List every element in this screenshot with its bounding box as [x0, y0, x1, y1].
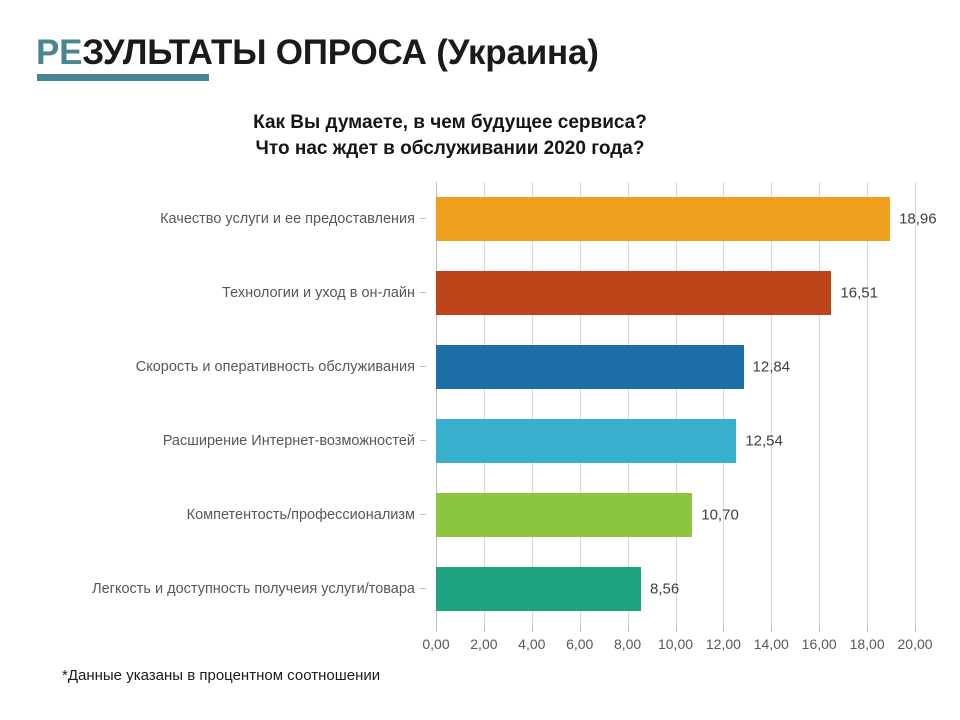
category-label: Качество услуги и ее предоставления: [0, 182, 426, 256]
bar-row[interactable]: 8,56: [436, 552, 915, 626]
chart-title-line-2: Что нас ждет в обслуживании 2020 года?: [0, 136, 900, 162]
bar[interactable]: 12,84: [436, 345, 744, 389]
page-title-accent: РЕ: [36, 33, 82, 72]
value-axis-tick: [771, 626, 772, 632]
value-axis-tick: [723, 626, 724, 632]
bar-value-label: 8,56: [650, 581, 679, 598]
bar-row[interactable]: 10,70: [436, 478, 915, 552]
bar-row[interactable]: 12,54: [436, 404, 915, 478]
category-label-text: Скорость и оперативность обслуживания: [136, 359, 415, 375]
bar-value-label: 16,51: [840, 285, 878, 302]
value-axis-label: 0,00: [422, 636, 449, 652]
value-axis-tick: [867, 626, 868, 632]
value-axis-label: 14,00: [754, 636, 789, 652]
axis-tick: [420, 218, 426, 219]
axis-tick: [420, 588, 426, 589]
bar[interactable]: 10,70: [436, 493, 692, 537]
category-label-text: Качество услуги и ее предоставления: [160, 211, 415, 227]
bar-value-label: 12,54: [745, 433, 783, 450]
value-axis: 0,002,004,006,008,0010,0012,0014,0016,00…: [436, 626, 915, 656]
bar[interactable]: 16,51: [436, 271, 831, 315]
category-label-text: Компетентость/профессионализм: [187, 507, 415, 523]
plot-area: 18,9616,5112,8412,5410,708,56: [436, 182, 915, 626]
bar[interactable]: 8,56: [436, 567, 641, 611]
chart-title-line-1: Как Вы думаете, в чем будущее сервиса?: [0, 110, 900, 136]
bar-value-label: 10,70: [701, 507, 739, 524]
bar[interactable]: 18,96: [436, 197, 890, 241]
category-label: Скорость и оперативность обслуживания: [0, 330, 426, 404]
bar-row[interactable]: 16,51: [436, 256, 915, 330]
axis-tick: [420, 366, 426, 367]
bar-row[interactable]: 12,84: [436, 330, 915, 404]
category-label: Компетентость/профессионализм: [0, 478, 426, 552]
axis-tick: [420, 440, 426, 441]
category-label: Легкость и доступность получеия услуги/т…: [0, 552, 426, 626]
bar-series: 18,9616,5112,8412,5410,708,56: [436, 182, 915, 626]
category-label-text: Технологии и уход в он-лайн: [222, 285, 415, 301]
axis-tick: [420, 514, 426, 515]
axis-tick: [420, 292, 426, 293]
gridline: [915, 182, 916, 626]
value-axis-label: 2,00: [470, 636, 497, 652]
title-underline-rule: [37, 74, 209, 81]
value-axis-tick: [580, 626, 581, 632]
value-axis-tick: [436, 626, 437, 632]
value-axis-tick: [484, 626, 485, 632]
value-axis-label: 18,00: [850, 636, 885, 652]
value-axis-tick: [819, 626, 820, 632]
bar-value-label: 18,96: [899, 211, 937, 228]
value-axis-label: 12,00: [706, 636, 741, 652]
value-axis-tick: [532, 626, 533, 632]
value-axis-tick: [915, 626, 916, 632]
slide-canvas: РЕЗУЛЬТАТЫ ОПРОСА (Украина) Как Вы думае…: [0, 0, 960, 720]
value-axis-label: 8,00: [614, 636, 641, 652]
bar-chart: Качество услуги и ее предоставления Техн…: [0, 182, 960, 652]
value-axis-label: 16,00: [802, 636, 837, 652]
category-label-text: Расширение Интернет-возможностей: [163, 433, 415, 449]
page-title: РЕЗУЛЬТАТЫ ОПРОСА (Украина): [36, 33, 599, 73]
category-label: Расширение Интернет-возможностей: [0, 404, 426, 478]
footnote: *Данные указаны в процентном соотношении: [62, 667, 380, 684]
bar-row[interactable]: 18,96: [436, 182, 915, 256]
value-axis-tick: [676, 626, 677, 632]
bar-value-label: 12,84: [753, 359, 791, 376]
value-axis-tick: [628, 626, 629, 632]
value-axis-label: 20,00: [897, 636, 932, 652]
chart-title: Как Вы думаете, в чем будущее сервиса? Ч…: [0, 110, 900, 162]
value-axis-label: 6,00: [566, 636, 593, 652]
category-label: Технологии и уход в он-лайн: [0, 256, 426, 330]
page-title-rest: ЗУЛЬТАТЫ ОПРОСА (Украина): [82, 33, 598, 72]
value-axis-label: 10,00: [658, 636, 693, 652]
value-axis-label: 4,00: [518, 636, 545, 652]
category-axis: Качество услуги и ее предоставления Техн…: [0, 182, 426, 626]
category-label-text: Легкость и доступность получеия услуги/т…: [92, 581, 415, 597]
bar[interactable]: 12,54: [436, 419, 736, 463]
